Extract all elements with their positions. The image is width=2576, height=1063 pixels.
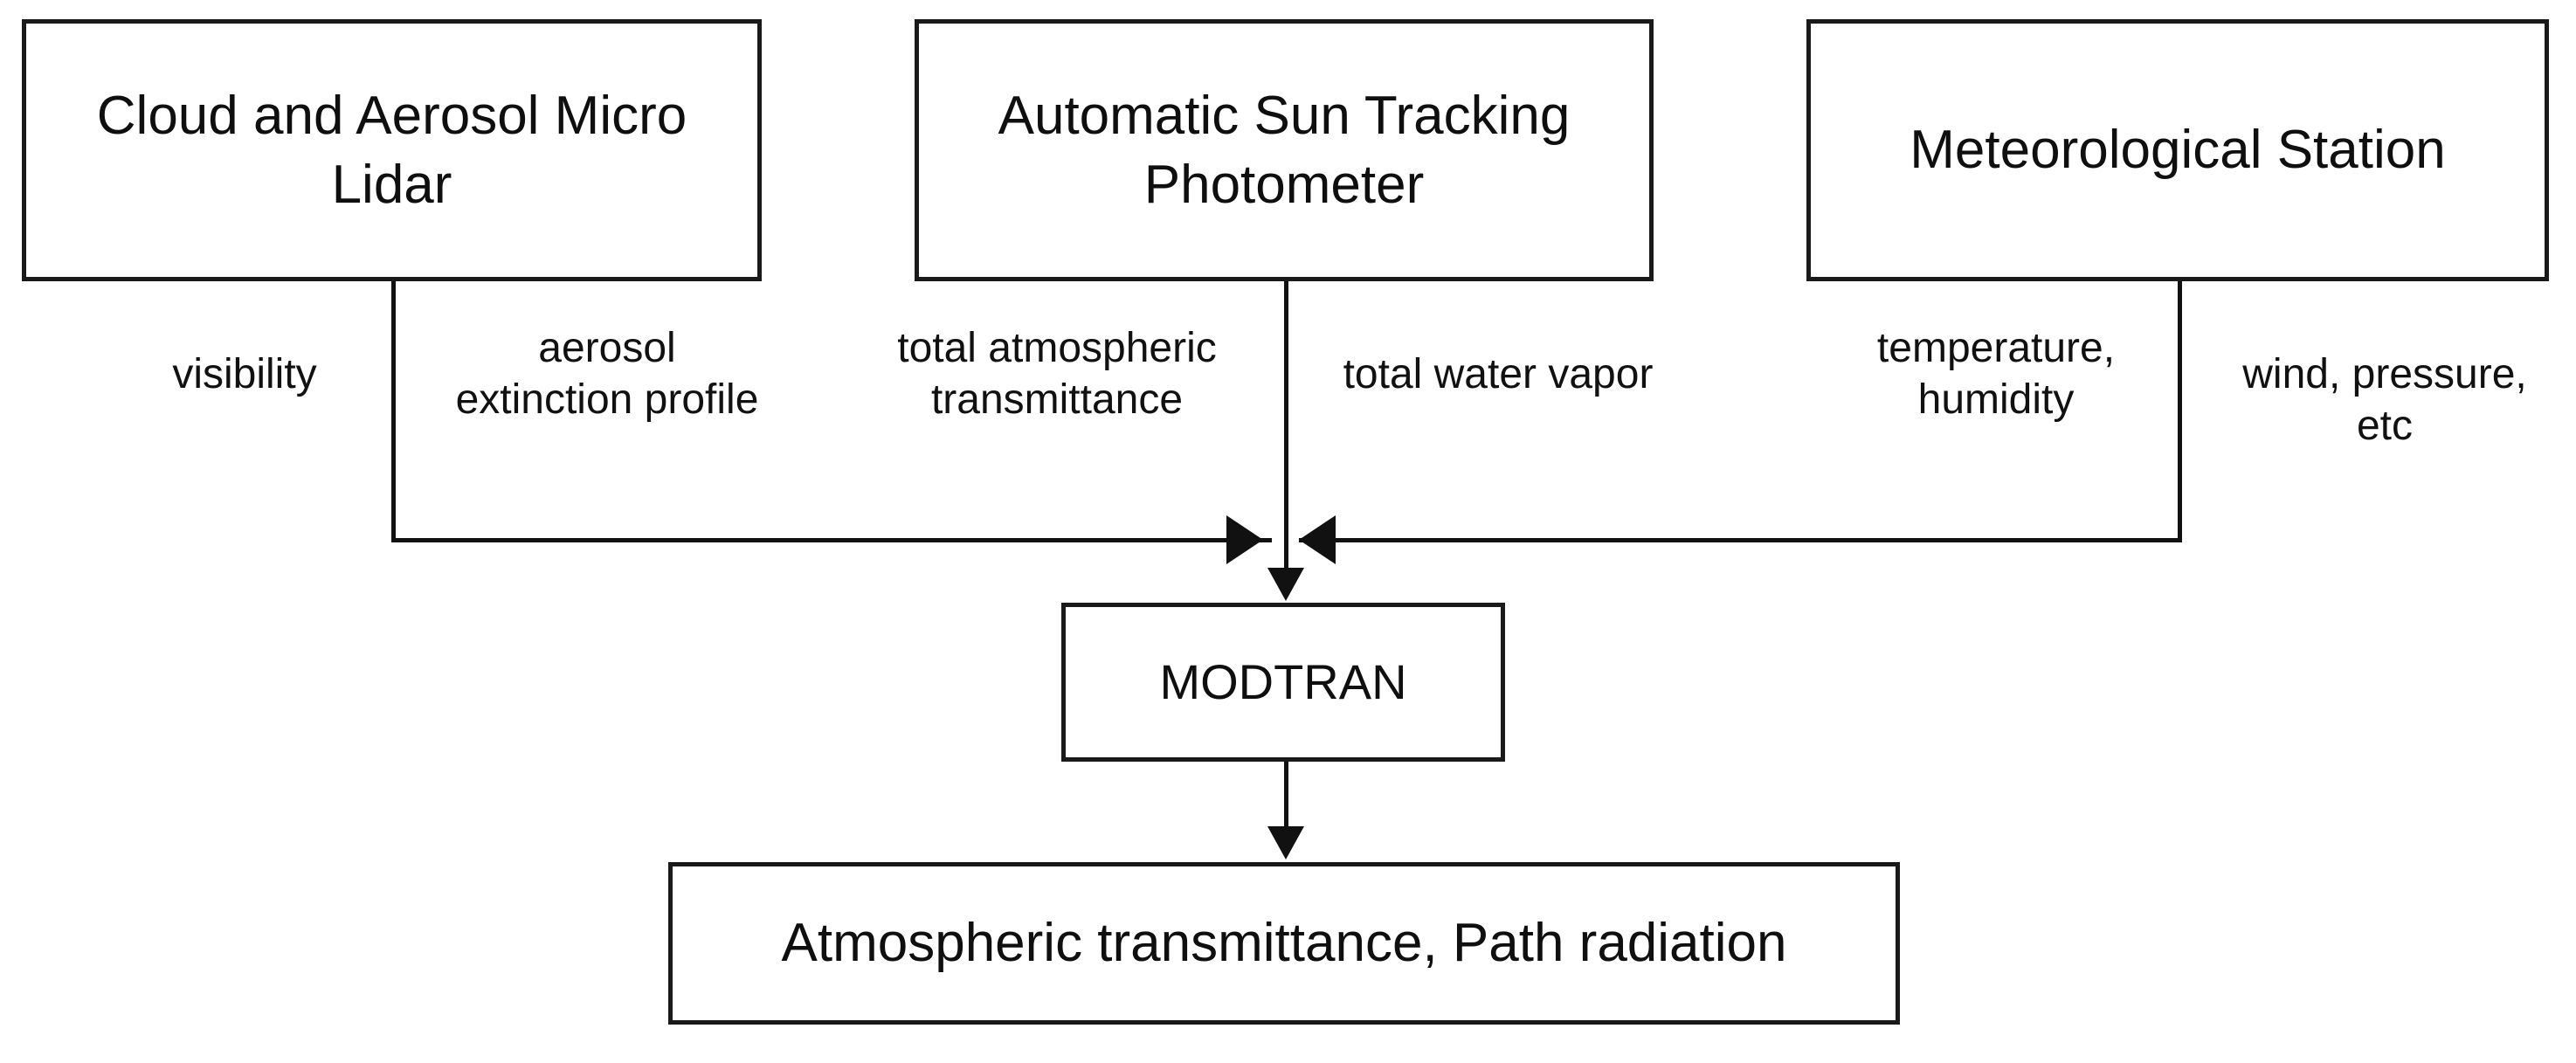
- node-label: Automatic Sun Tracking Photometer: [983, 81, 1586, 220]
- node-modtran[interactable]: MODTRAN: [1061, 603, 1505, 762]
- connector-photometer-vertical: [1284, 281, 1288, 573]
- node-label: Meteorological Station: [1894, 115, 2461, 184]
- arrowhead-right-into-junction: [1299, 515, 1336, 564]
- connector-metstation-vertical: [2178, 281, 2182, 542]
- node-cloud-aerosol-micro-lidar[interactable]: Cloud and Aerosol Micro Lidar: [22, 19, 762, 281]
- connector-bus-right-segment: [1299, 538, 2182, 542]
- node-label: MODTRAN: [1143, 651, 1422, 714]
- node-atmospheric-transmittance-path-radiation[interactable]: Atmospheric transmittance, Path radiatio…: [668, 862, 1900, 1025]
- edge-label-total-atmospheric-transmittance: total atmospheric transmittance: [843, 323, 1271, 425]
- edge-label-wind-pressure-etc: wind, pressure, etc: [2201, 349, 2568, 452]
- node-meteorological-station[interactable]: Meteorological Station: [1806, 19, 2549, 281]
- node-label: Cloud and Aerosol Micro Lidar: [81, 81, 702, 220]
- edge-label-visibility: visibility: [114, 349, 376, 401]
- arrowhead-left-into-junction: [1226, 515, 1263, 564]
- diagram-canvas: Cloud and Aerosol Micro Lidar Automatic …: [0, 0, 2576, 1063]
- arrowhead-into-output: [1267, 826, 1304, 859]
- node-label: Atmospheric transmittance, Path radiatio…: [766, 908, 1803, 977]
- connector-modtran-to-output-vertical: [1284, 762, 1288, 830]
- connector-bus-left-segment: [391, 538, 1272, 542]
- node-automatic-sun-tracking-photometer[interactable]: Automatic Sun Tracking Photometer: [915, 19, 1654, 281]
- connector-lidar-vertical: [391, 281, 396, 542]
- edge-label-total-water-vapor: total water vapor: [1302, 349, 1695, 401]
- arrowhead-into-modtran: [1267, 568, 1304, 601]
- edge-label-aerosol-extinction-profile: aerosol extinction profile: [402, 323, 812, 425]
- edge-label-temperature-humidity: temperature, humidity: [1821, 323, 2171, 425]
